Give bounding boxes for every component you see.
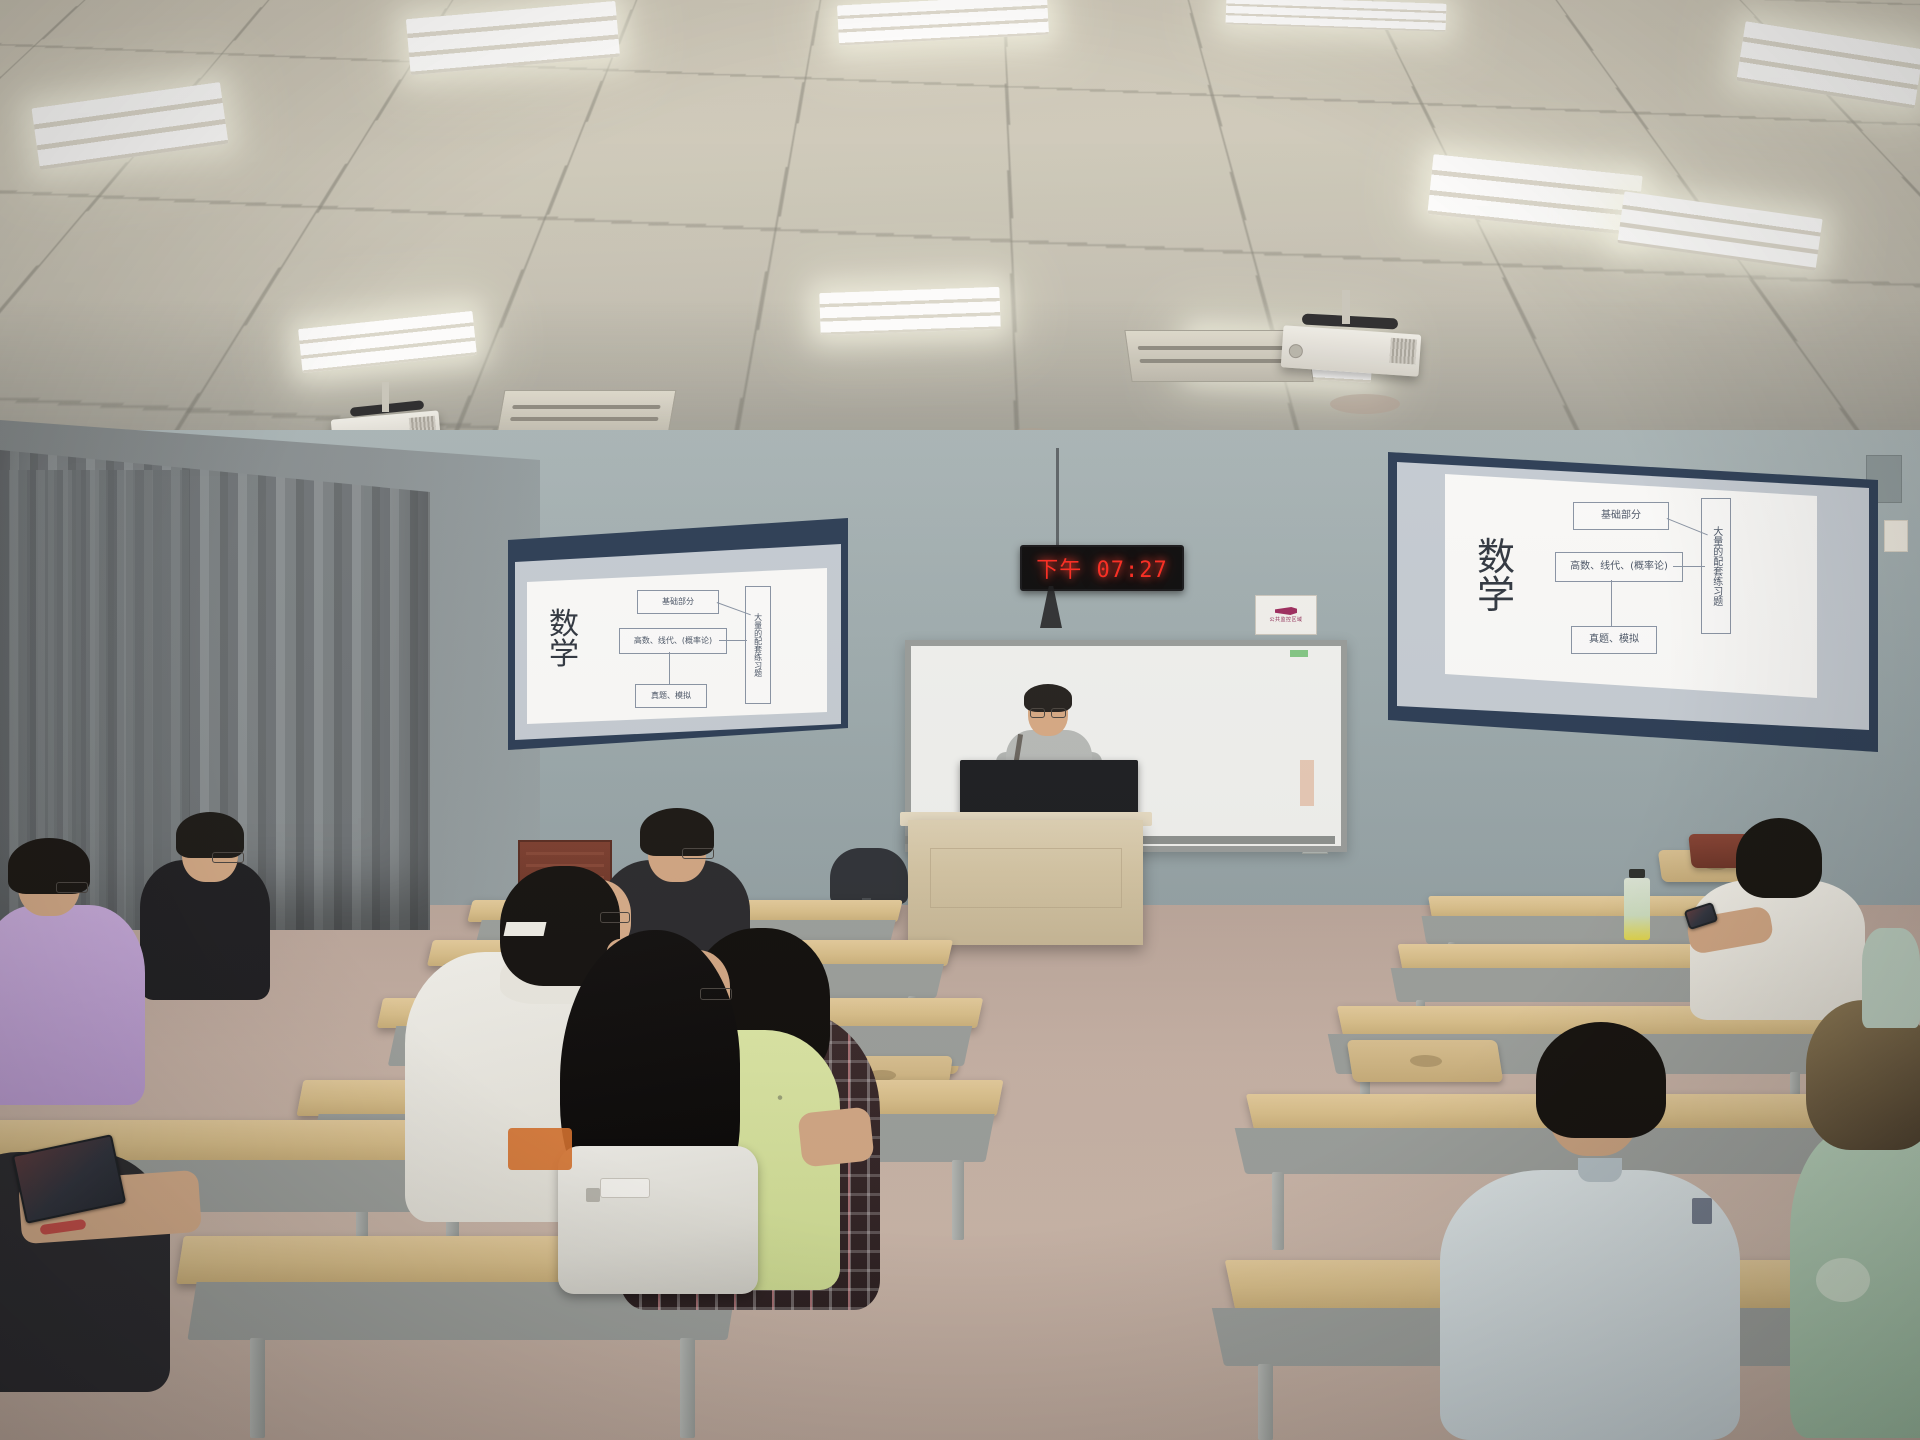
- shirt-collar: [1578, 1158, 1622, 1182]
- lectern-panel: [930, 848, 1122, 908]
- teacher-chair: [830, 848, 908, 904]
- desk-leg: [1272, 1172, 1284, 1250]
- desk-leg: [250, 1338, 265, 1438]
- slide-box-foundation: 基础部分: [1573, 502, 1669, 530]
- clock-hanging-wire: [1056, 448, 1059, 548]
- slide-connector: [1611, 580, 1612, 626]
- backpack-strap: [600, 1178, 650, 1198]
- student-hair: [1536, 1022, 1666, 1138]
- student-arm: [797, 1106, 874, 1167]
- led-wall-clock: 下午 07:27: [1020, 545, 1184, 591]
- slide-box-subjects: 高数、线代、(概率论): [619, 628, 727, 654]
- podium-monitor: [960, 760, 1138, 818]
- slide-connector: [719, 640, 747, 641]
- slide-box-papers: 真题、模拟: [635, 684, 707, 708]
- white-backpack: [558, 1146, 758, 1294]
- slide-connector: [669, 652, 670, 684]
- slide-title: 数学: [1477, 538, 1521, 614]
- slide-box-foundation: 基础部分: [637, 590, 719, 614]
- slide-connector: [1673, 566, 1705, 567]
- projector-mount-pole: [382, 382, 389, 412]
- glasses-icon: [1030, 708, 1066, 716]
- chair-handle-hole: [1409, 1055, 1443, 1067]
- classroom-photo: 数学 基础部分 高数、线代、(概率论) 真题、模拟 大量的配套练习题 数学 基础…: [0, 0, 1920, 1440]
- right-projection-screen: 数学 基础部分 高数、线代、(概率论) 真题、模拟 大量的配套练习题: [1388, 452, 1878, 752]
- projector-mount-pole: [1342, 290, 1350, 324]
- collar-trim: [1816, 1258, 1870, 1302]
- slide-box-practice: 大量的配套练习题: [1701, 498, 1731, 634]
- desk-front-panel: [1235, 1128, 1840, 1174]
- chair-back: [1347, 1040, 1504, 1082]
- ceiling-lamp: [819, 287, 1000, 335]
- student-body: [1862, 928, 1920, 1028]
- ceiling-diffuser: [1330, 394, 1400, 414]
- water-bottle: [1624, 878, 1650, 940]
- slide-title: 数学: [549, 610, 589, 670]
- glasses-icon: [56, 882, 88, 893]
- backpack-buckle: [586, 1188, 600, 1202]
- cctv-sign-label: 公共监控区域: [1269, 616, 1302, 623]
- student-body: [0, 905, 145, 1105]
- glasses-icon: [600, 912, 630, 923]
- left-projection-screen: 数学 基础部分 高数、线代、(概率论) 真题、模拟 大量的配套练习题: [508, 518, 848, 750]
- left-screen-surface: 数学 基础部分 高数、线代、(概率论) 真题、模拟 大量的配套练习题: [515, 544, 841, 740]
- student-hair: [1736, 818, 1822, 898]
- right-screen-surface: 数学 基础部分 高数、线代、(概率论) 真题、模拟 大量的配套练习题: [1397, 462, 1869, 738]
- whiteboard-magnet: [1290, 650, 1308, 657]
- desk-leg: [1258, 1364, 1273, 1440]
- desk-paper: [504, 922, 547, 936]
- slide-box-subjects: 高数、线代、(概率论): [1555, 552, 1683, 582]
- desk-leg: [680, 1338, 695, 1438]
- cctv-camera-icon: [1275, 607, 1297, 615]
- shirt-pocket-pen: [1692, 1198, 1712, 1224]
- glasses-icon: [212, 852, 244, 863]
- slide-box-practice: 大量的配套练习题: [745, 586, 771, 704]
- glasses-icon: [700, 988, 732, 1000]
- glasses-icon: [682, 848, 714, 859]
- wall-notice-card: [1884, 520, 1908, 552]
- left-slide: 数学 基础部分 高数、线代、(概率论) 真题、模拟 大量的配套练习题: [527, 568, 827, 724]
- wall-side-panel: [1300, 760, 1314, 806]
- desk-leg: [952, 1160, 964, 1240]
- orange-pouch: [508, 1128, 572, 1170]
- cctv-notice-sign: 公共监控区域: [1255, 595, 1317, 635]
- clock-time-text: 下午 07:27: [1036, 552, 1167, 584]
- slide-box-papers: 真题、模拟: [1571, 626, 1657, 654]
- right-slide: 数学 基础部分 高数、线代、(概率论) 真题、模拟 大量的配套练习题: [1445, 474, 1817, 712]
